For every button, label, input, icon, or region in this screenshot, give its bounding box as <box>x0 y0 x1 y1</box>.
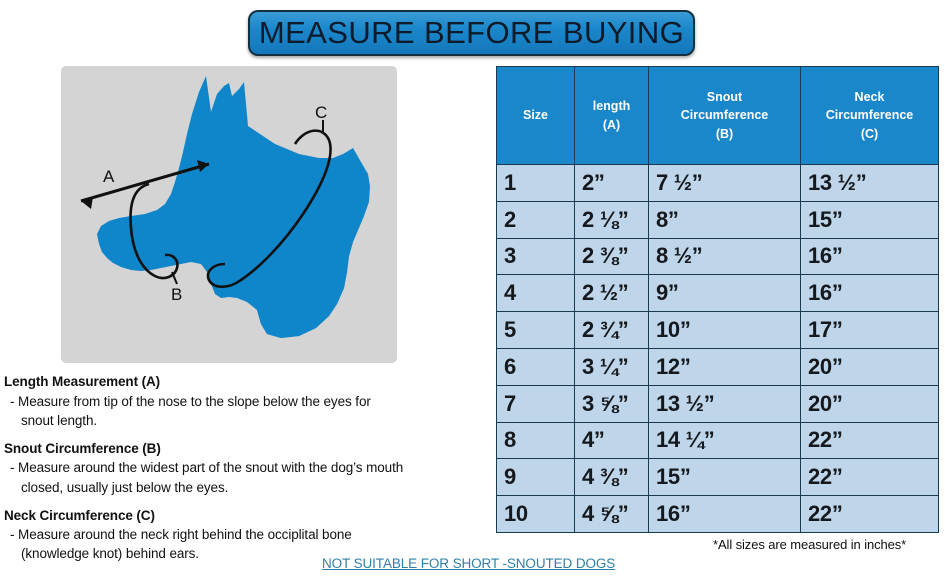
instruction-neck-line1: - Measure around the neck right behind t… <box>10 527 352 542</box>
cell-length: 2 ⅜” <box>575 238 649 275</box>
cell-neck: 22” <box>801 422 939 459</box>
column-header-length: length (A) <box>575 67 649 165</box>
column-header-snout-circumference: Snout Circumference (B) <box>649 67 801 165</box>
table-header-row: Size length (A) Snout Circumference (B) … <box>497 67 939 165</box>
cell-size: 2 <box>497 201 575 238</box>
dog-measurement-illustration: A B C <box>61 66 397 363</box>
cell-snout: 14 ¼” <box>649 422 801 459</box>
annotation-c-label: C <box>315 103 327 122</box>
column-header-neck-line1: Neck <box>855 90 885 104</box>
table-row: 3 2 ⅜” 8 ½” 16” <box>497 238 939 275</box>
cell-length: 4 ⅝” <box>575 496 649 533</box>
column-header-neck-line2: Circumference <box>826 108 914 122</box>
instruction-snout: Snout Circumference (B) - Measure around… <box>4 439 494 497</box>
column-header-length-line2: (A) <box>603 118 620 132</box>
cell-size: 6 <box>497 348 575 385</box>
column-header-length-line1: length <box>593 99 631 113</box>
table-row: 7 3 ⅝” 13 ½” 20” <box>497 385 939 422</box>
table-row: 2 2 ⅛” 8” 15” <box>497 201 939 238</box>
instruction-neck: Neck Circumference (C) - Measure around … <box>4 506 494 564</box>
cell-snout: 8” <box>649 201 801 238</box>
instruction-snout-body: - Measure around the widest part of the … <box>4 458 494 496</box>
cell-length: 4 ⅜” <box>575 459 649 496</box>
instruction-snout-heading: Snout Circumference (B) <box>4 439 494 459</box>
cell-snout: 10” <box>649 312 801 349</box>
cell-neck: 16” <box>801 238 939 275</box>
cell-length: 2 ¾” <box>575 312 649 349</box>
cell-length: 3 ¼” <box>575 348 649 385</box>
cell-snout: 13 ½” <box>649 385 801 422</box>
column-header-snout-line3: (B) <box>716 127 733 141</box>
table-row: 9 4 ⅜” 15” 22” <box>497 459 939 496</box>
table-row: 4 2 ½” 9” 16” <box>497 275 939 312</box>
cell-snout: 15” <box>649 459 801 496</box>
cell-length: 3 ⅝” <box>575 385 649 422</box>
cell-length: 2 ⅛” <box>575 201 649 238</box>
instructions-block: Length Measurement (A) - Measure from ti… <box>4 372 494 573</box>
column-header-size-line1: Size <box>523 108 548 122</box>
cell-snout: 9” <box>649 275 801 312</box>
column-header-size: Size <box>497 67 575 165</box>
cell-neck: 22” <box>801 459 939 496</box>
cell-length: 4” <box>575 422 649 459</box>
cell-neck: 20” <box>801 348 939 385</box>
dog-head-diagram-svg: A B C <box>61 66 397 363</box>
cell-neck: 20” <box>801 385 939 422</box>
title-banner: MEASURE BEFORE BUYING <box>248 10 695 56</box>
column-header-snout-line2: Circumference <box>681 108 769 122</box>
cell-length: 2” <box>575 165 649 202</box>
cell-size: 3 <box>497 238 575 275</box>
instruction-length-heading: Length Measurement (A) <box>4 372 494 392</box>
size-chart-body: 1 2” 7 ½” 13 ½” 2 2 ⅛” 8” 15” 3 2 ⅜” 8 ½… <box>497 165 939 533</box>
instruction-length-line2: snout length. <box>10 411 494 430</box>
cell-size: 4 <box>497 275 575 312</box>
table-row: 5 2 ¾” 10” 17” <box>497 312 939 349</box>
column-header-neck-line3: (C) <box>861 127 878 141</box>
cell-snout: 16” <box>649 496 801 533</box>
instruction-neck-heading: Neck Circumference (C) <box>4 506 494 526</box>
note-all-sizes-in-inches: *All sizes are measured in inches* <box>713 537 906 552</box>
size-chart-header: Size length (A) Snout Circumference (B) … <box>497 67 939 165</box>
column-header-snout-line1: Snout <box>707 90 742 104</box>
cell-snout: 8 ½” <box>649 238 801 275</box>
annotation-b-label: B <box>171 285 182 304</box>
cell-size: 10 <box>497 496 575 533</box>
instruction-snout-line2: closed, usually just below the eyes. <box>10 478 494 497</box>
cell-size: 1 <box>497 165 575 202</box>
instruction-length: Length Measurement (A) - Measure from ti… <box>4 372 494 430</box>
annotation-a-label: A <box>103 167 115 186</box>
cell-size: 8 <box>497 422 575 459</box>
instruction-snout-line1: - Measure around the widest part of the … <box>10 460 403 475</box>
table-row: 10 4 ⅝” 16” 22” <box>497 496 939 533</box>
table-row: 1 2” 7 ½” 13 ½” <box>497 165 939 202</box>
cell-snout: 7 ½” <box>649 165 801 202</box>
cell-size: 9 <box>497 459 575 496</box>
cell-neck: 22” <box>801 496 939 533</box>
size-chart-table: Size length (A) Snout Circumference (B) … <box>496 66 939 533</box>
instruction-length-body: - Measure from tip of the nose to the sl… <box>4 392 494 430</box>
cell-neck: 13 ½” <box>801 165 939 202</box>
column-header-neck-circumference: Neck Circumference (C) <box>801 67 939 165</box>
page-title: MEASURE BEFORE BUYING <box>259 15 684 51</box>
cell-snout: 12” <box>649 348 801 385</box>
cell-neck: 17” <box>801 312 939 349</box>
cell-neck: 16” <box>801 275 939 312</box>
note-not-suitable-for-short-snouted-dogs: NOT SUITABLE FOR SHORT -SNOUTED DOGS <box>322 556 615 571</box>
table-row: 6 3 ¼” 12” 20” <box>497 348 939 385</box>
cell-length: 2 ½” <box>575 275 649 312</box>
cell-size: 7 <box>497 385 575 422</box>
cell-size: 5 <box>497 312 575 349</box>
cell-neck: 15” <box>801 201 939 238</box>
table-row: 8 4” 14 ¼” 22” <box>497 422 939 459</box>
instruction-length-line1: - Measure from tip of the nose to the sl… <box>10 394 371 409</box>
